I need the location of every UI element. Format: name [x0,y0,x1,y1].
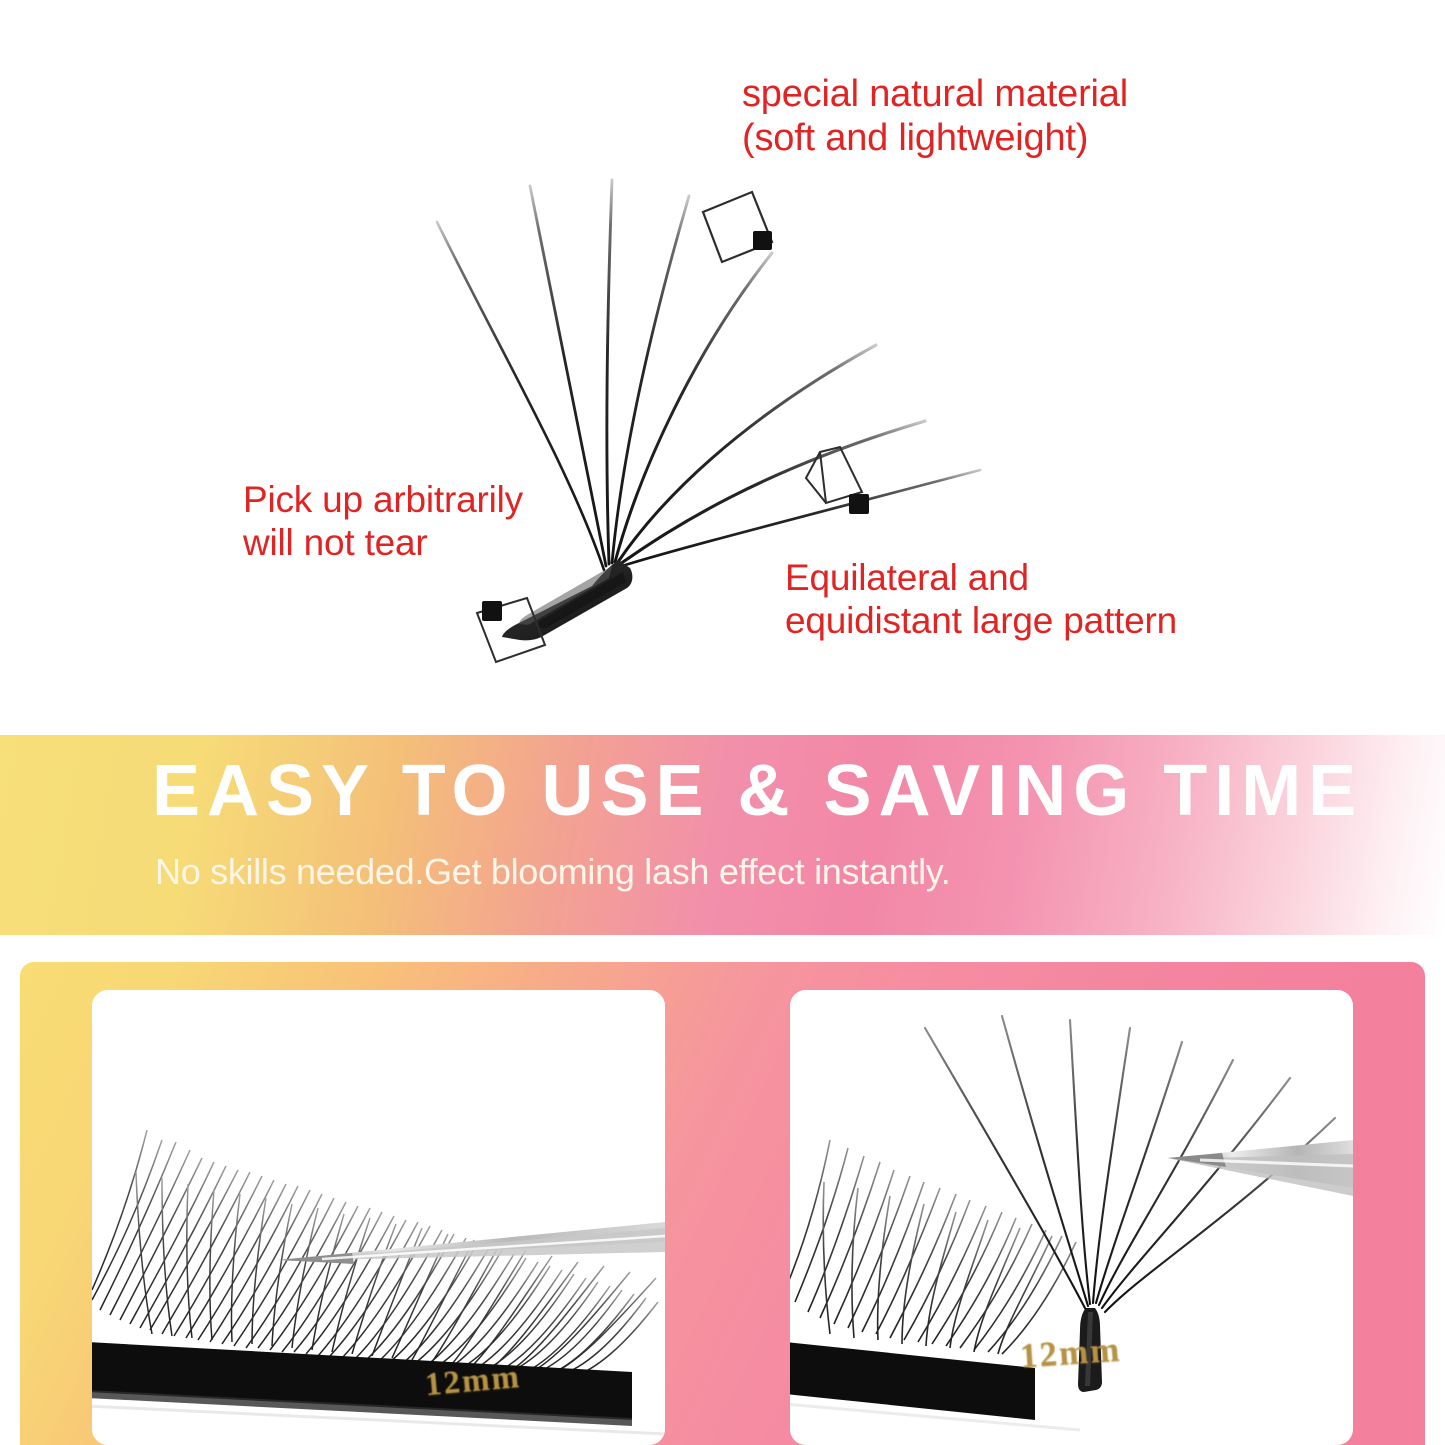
banner-subtitle: No skills needed.Get blooming lash effec… [155,852,1355,892]
banner-title: EASY TO USE & SAVING TIME [152,755,1312,827]
lash-fan-pickup-photo: 12mm [790,990,1353,1445]
lash-tray-photo-graphic [92,990,665,1445]
photo-caption-12mm-right: 12mm [1019,1330,1123,1377]
callout-label-pickup: Pick up arbitrarily will not tear [243,478,523,565]
lash-fan-illustration [0,0,1445,735]
easy-to-use-banner: EASY TO USE & SAVING TIME No skills need… [0,735,1445,935]
top-illustration-section: special natural material (soft and light… [0,0,1445,735]
callout-marker-equilateral [806,447,869,514]
product-photo-panel: 12mm [20,962,1425,1445]
callout-label-equilateral: Equilateral and equidistant large patter… [785,556,1177,643]
callout-marker-material [703,192,772,262]
callout-label-material: special natural material (soft and light… [742,72,1128,161]
lash-fan-pickup-photo-graphic [790,990,1353,1445]
lash-tray-photo: 12mm [92,990,665,1445]
